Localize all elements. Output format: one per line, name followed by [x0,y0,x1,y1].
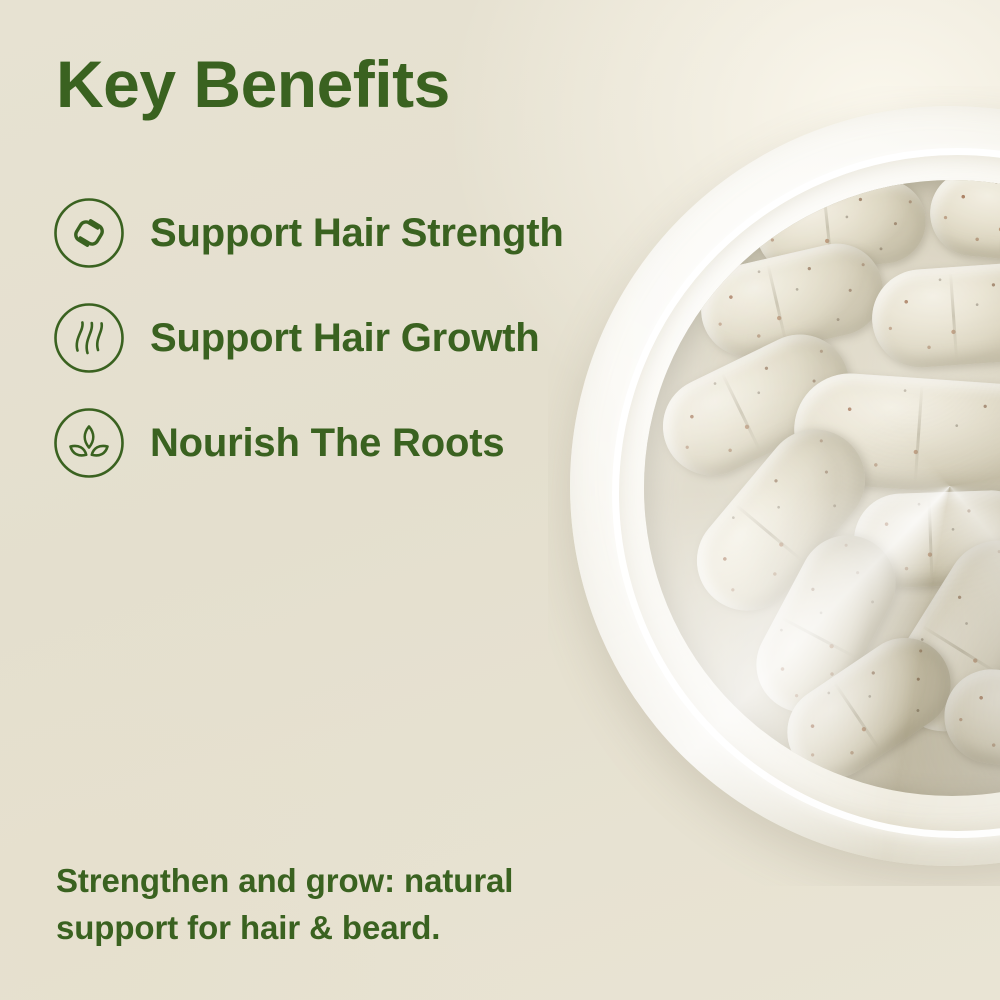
chain-link-icon [52,196,126,270]
benefit-label: Nourish The Roots [150,421,504,466]
benefit-label: Support Hair Strength [150,211,564,256]
caption-text: Strengthen and grow: natural support for… [56,858,596,952]
benefit-item-hair-growth: Support Hair Growth [52,293,672,383]
benefit-item-nourish-roots: Nourish The Roots [52,398,672,488]
caption-line-2: support for hair & beard. [56,905,596,952]
page-title: Key Benefits [56,50,450,119]
benefit-label: Support Hair Growth [150,316,540,361]
benefit-item-hair-strength: Support Hair Strength [52,188,672,278]
sprout-leaves-icon [52,406,126,480]
caption-line-1: Strengthen and grow: natural [56,858,596,905]
key-benefits-graphic: Key Benefits Support Hair Strength [0,0,1000,1000]
benefits-list: Support Hair Strength Support Hair Growt… [52,188,672,503]
hair-strands-icon [52,301,126,375]
